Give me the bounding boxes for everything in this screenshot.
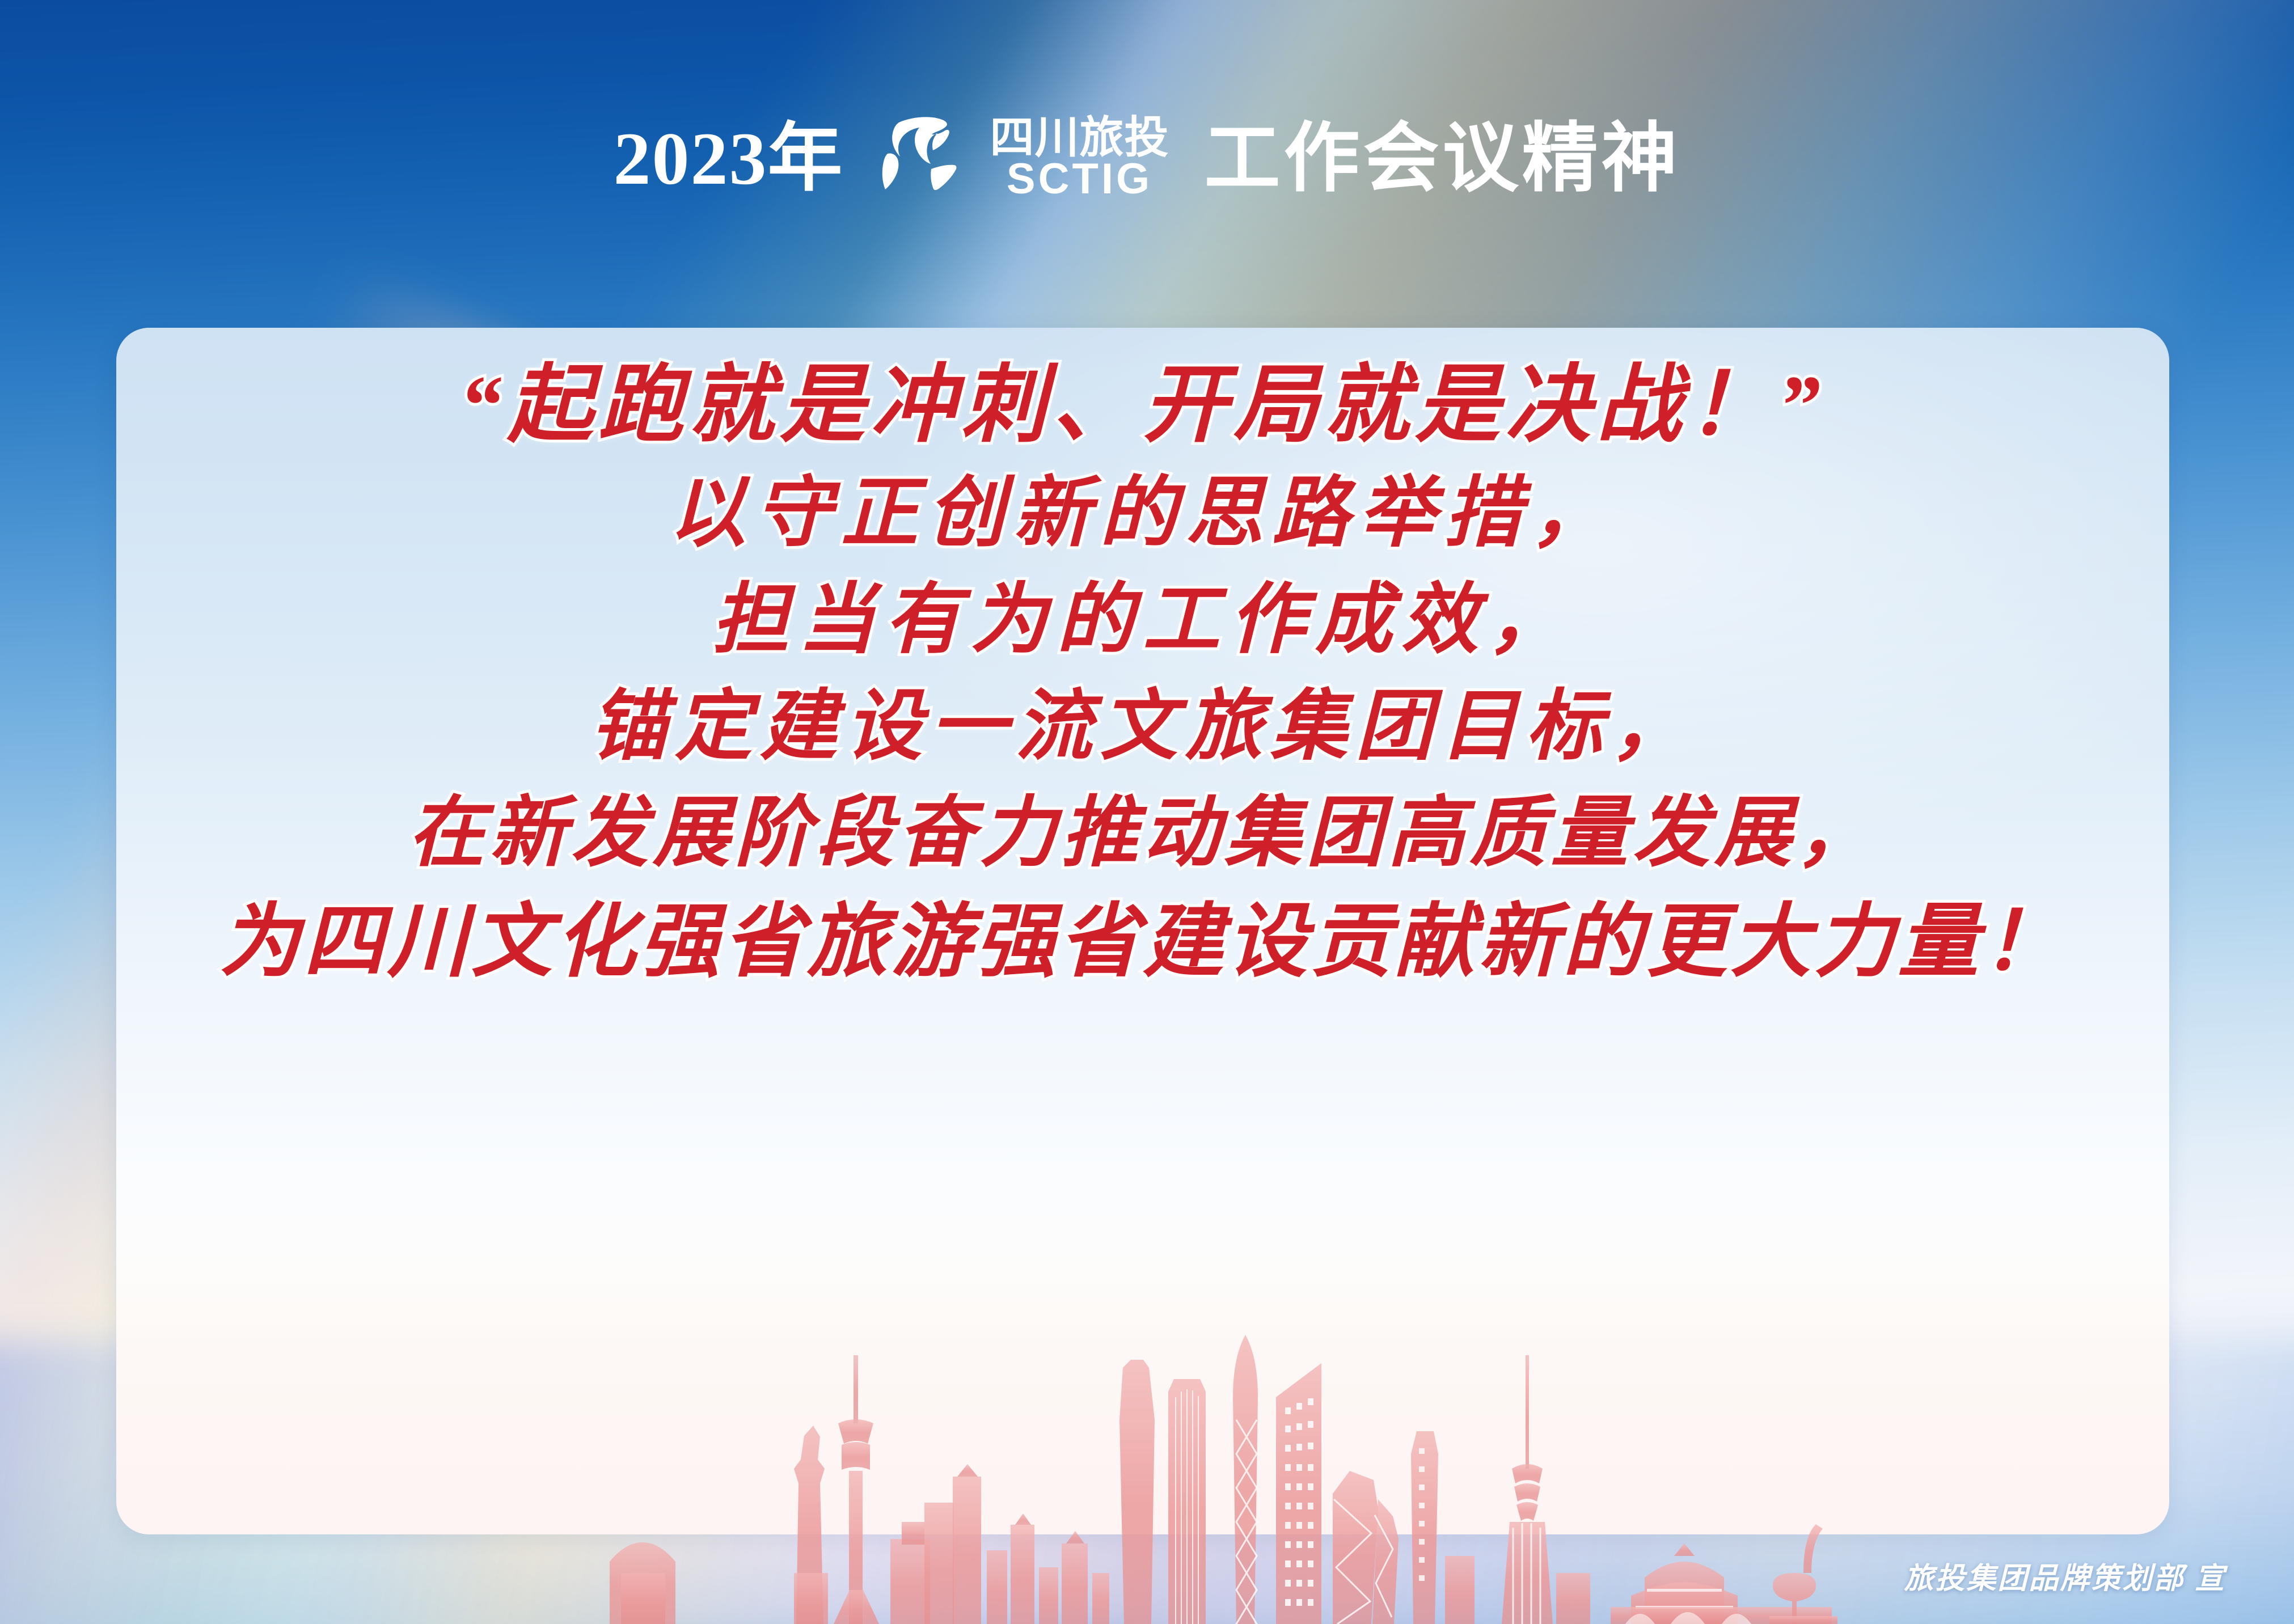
- globe-logo-icon: [878, 116, 975, 201]
- slogan-line-6: 为四川文化强省旅游强省建设贡献新的更大力量！: [219, 902, 2066, 1009]
- poster-canvas: 2023年 四川旅投 SCTIG 工作会议精神: [0, 0, 2294, 1624]
- slogan-line-1: “起跑就是冲刺、开局就是决战！”: [459, 363, 1826, 475]
- slogan-block: “起跑就是冲刺、开局就是决战！” 以守正创新的思路举措， 担当有为的工作成效， …: [116, 363, 2169, 1009]
- slogan-line-4: 锚定建设一流文旅集团目标，: [590, 688, 1696, 795]
- logo-chinese-name: 四川旅投: [990, 117, 1169, 158]
- footer-credit: 旅投集团品牌策划部 宣: [1904, 1554, 2226, 1597]
- slogan-line-5: 在新发展阶段奋力推动集团高质量发展，: [408, 795, 1878, 902]
- poster-header: 2023年 四川旅投 SCTIG 工作会议精神: [0, 85, 2294, 232]
- header-year: 2023年: [613, 121, 843, 196]
- logo-wordmark: 四川旅投 SCTIG: [990, 117, 1169, 201]
- slogan-line-2: 以守正创新的思路举措，: [669, 475, 1617, 582]
- sctig-logo: 四川旅投 SCTIG: [878, 116, 1169, 201]
- slogan-line-3: 担当有为的工作成效，: [712, 582, 1574, 688]
- header-title: 工作会议精神: [1205, 121, 1681, 197]
- logo-english-name: SCTIG: [990, 158, 1169, 200]
